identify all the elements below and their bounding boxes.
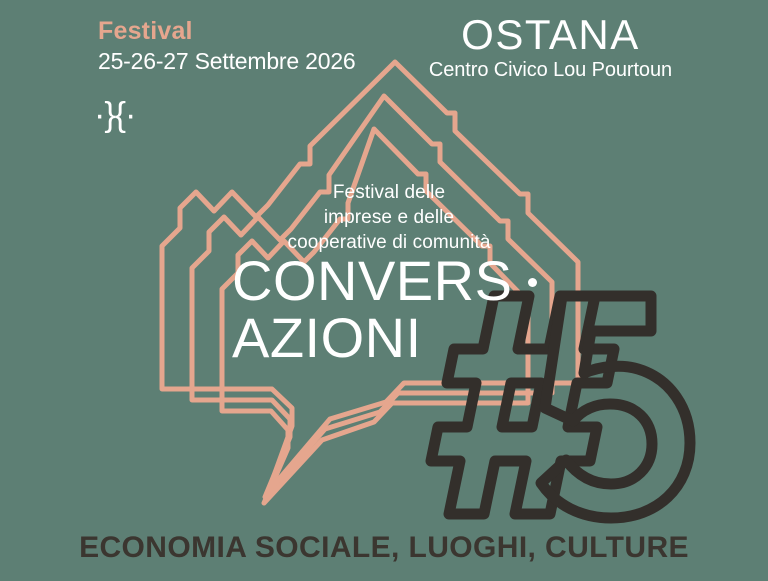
footer-tagline: ECONOMIA SOCIALE, LUOGHI, CULTURE bbox=[0, 531, 768, 565]
center-subtitle: Festival delle imprese e delle cooperati… bbox=[0, 180, 768, 255]
title-line-1: CONVERS bbox=[232, 252, 537, 309]
venue-name: Centro Civico Lou Pourtoun bbox=[429, 60, 672, 80]
festival-dates: 25-26-27 Settembre 2026 bbox=[98, 49, 356, 73]
subtitle-line-2: imprese e delle bbox=[10, 205, 768, 230]
main-title: CONVERS AZIONI bbox=[232, 252, 537, 366]
title-dot-icon bbox=[528, 278, 537, 287]
title-line-1-text: CONVERS bbox=[232, 249, 512, 312]
subtitle-line-1: Festival delle bbox=[10, 180, 768, 205]
numeral-five bbox=[541, 296, 690, 518]
festival-poster: Festival 25-26-27 Settembre 2026 ·}{· OS… bbox=[0, 0, 768, 581]
city-name: OSTANA bbox=[429, 14, 672, 56]
brace-mark-icon: ·}{· bbox=[94, 96, 135, 135]
festival-kicker: Festival bbox=[98, 18, 356, 45]
title-line-2: AZIONI bbox=[232, 309, 537, 366]
header-left-block: Festival 25-26-27 Settembre 2026 bbox=[98, 18, 356, 73]
header-right-block: OSTANA Centro Civico Lou Pourtoun bbox=[429, 14, 672, 80]
